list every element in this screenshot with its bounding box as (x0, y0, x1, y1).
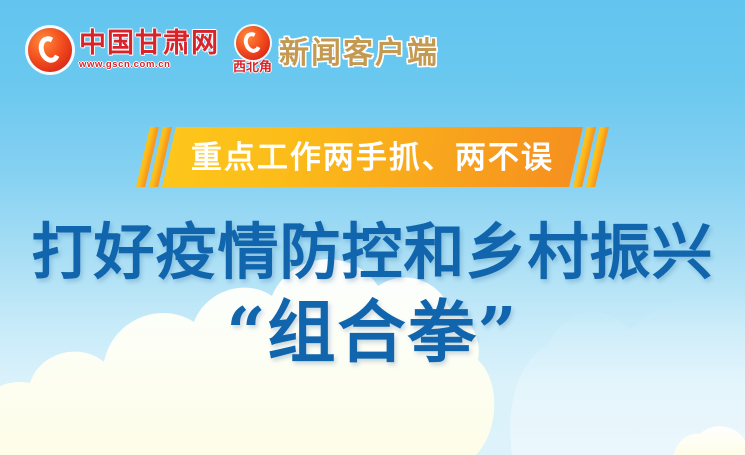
headline-line-2: “组合拳” (0, 299, 745, 367)
xibeijiao-circle-logo (236, 26, 270, 60)
poster-banner: 中国甘肃网 www.gscn.com.cn 西北角 新闻客户端 重点工作两手抓、… (0, 0, 745, 455)
gansu-net-wordmark: 中国甘肃网 www.gscn.com.cn (79, 30, 219, 70)
xibeijiao-logo-group: 西北角 (233, 26, 272, 74)
cloud-bottom-right-corner (674, 426, 745, 455)
logo-gansu-net[interactable]: 中国甘肃网 www.gscn.com.cn (28, 28, 219, 72)
headline-line-1: 打好疫情防控和乡村振兴 (0, 222, 745, 283)
gansu-net-url: www.gscn.com.cn (79, 60, 219, 70)
ribbon-text: 重点工作两手抓、两不误 (191, 142, 554, 173)
gansu-net-circle-logo (28, 28, 72, 72)
gansu-net-name: 中国甘肃网 (79, 30, 219, 57)
ribbon-body: 重点工作两手抓、两不误 (162, 127, 583, 187)
logo-news-client[interactable]: 西北角 新闻客户端 (233, 26, 439, 74)
subtitle-ribbon: 重点工作两手抓、两不误 (0, 127, 745, 187)
news-client-name: 新闻客户端 (279, 28, 439, 72)
logo-bar: 中国甘肃网 www.gscn.com.cn 西北角 新闻客户端 (28, 22, 439, 78)
headline-block: 打好疫情防控和乡村振兴 “组合拳” (0, 222, 745, 367)
xibeijiao-label: 西北角 (233, 61, 272, 74)
